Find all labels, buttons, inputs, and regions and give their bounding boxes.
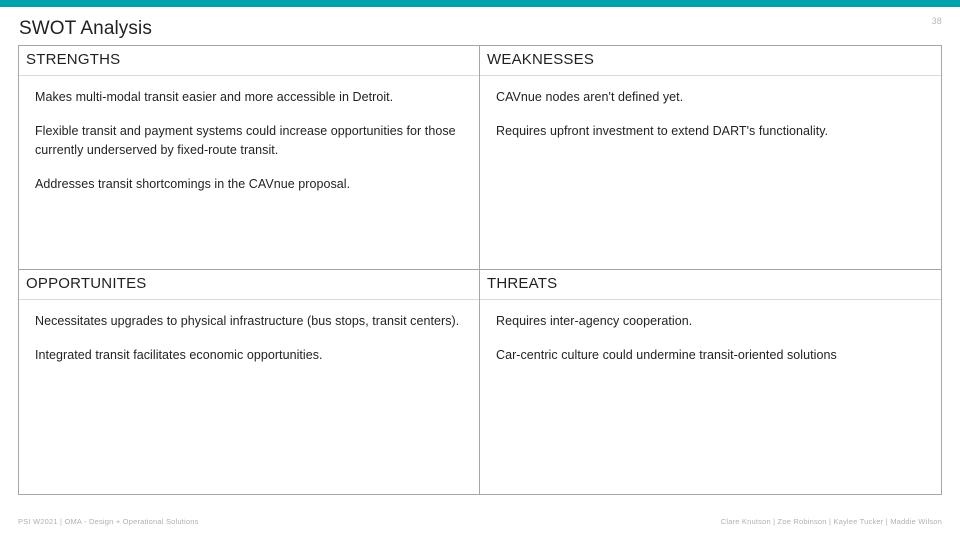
list-item: CAVnue nodes aren't defined yet.	[496, 88, 923, 107]
quadrant-body-threats: Requires inter-agency cooperation. Car-c…	[480, 300, 941, 365]
quadrant-body-weaknesses: CAVnue nodes aren't defined yet. Require…	[480, 76, 941, 141]
list-item: Makes multi-modal transit easier and mor…	[35, 88, 461, 107]
list-item: Requires upfront investment to extend DA…	[496, 122, 923, 141]
quadrant-header-opportunities: OPPORTUNITES	[19, 270, 479, 300]
page-title: SWOT Analysis	[19, 18, 152, 40]
list-item: Addresses transit shortcomings in the CA…	[35, 175, 461, 194]
swot-matrix: STRENGTHS Makes multi-modal transit easi…	[18, 45, 942, 495]
quadrant-header-threats: THREATS	[480, 270, 941, 300]
slide-number: 38	[932, 16, 942, 26]
quadrant-strengths: STRENGTHS Makes multi-modal transit easi…	[19, 46, 480, 270]
list-item: Necessitates upgrades to physical infras…	[35, 312, 461, 331]
quadrant-header-weaknesses: WEAKNESSES	[480, 46, 941, 76]
quadrant-opportunities: OPPORTUNITES Necessitates upgrades to ph…	[19, 270, 480, 494]
quadrant-weaknesses: WEAKNESSES CAVnue nodes aren't defined y…	[480, 46, 941, 270]
footer-authors: Clare Knutson | Zoe Robinson | Kaylee Tu…	[721, 517, 942, 526]
list-item: Car-centric culture could undermine tran…	[496, 346, 923, 365]
quadrant-header-strengths: STRENGTHS	[19, 46, 479, 76]
quadrant-threats: THREATS Requires inter-agency cooperatio…	[480, 270, 941, 494]
accent-top-bar	[0, 0, 960, 7]
quadrant-body-opportunities: Necessitates upgrades to physical infras…	[19, 300, 479, 365]
list-item: Flexible transit and payment systems cou…	[35, 122, 461, 159]
list-item: Integrated transit facilitates economic …	[35, 346, 461, 365]
list-item: Requires inter-agency cooperation.	[496, 312, 923, 331]
quadrant-body-strengths: Makes multi-modal transit easier and mor…	[19, 76, 479, 194]
footer-project-label: PSI W2021 | OMA - Design + Operational S…	[18, 517, 199, 526]
